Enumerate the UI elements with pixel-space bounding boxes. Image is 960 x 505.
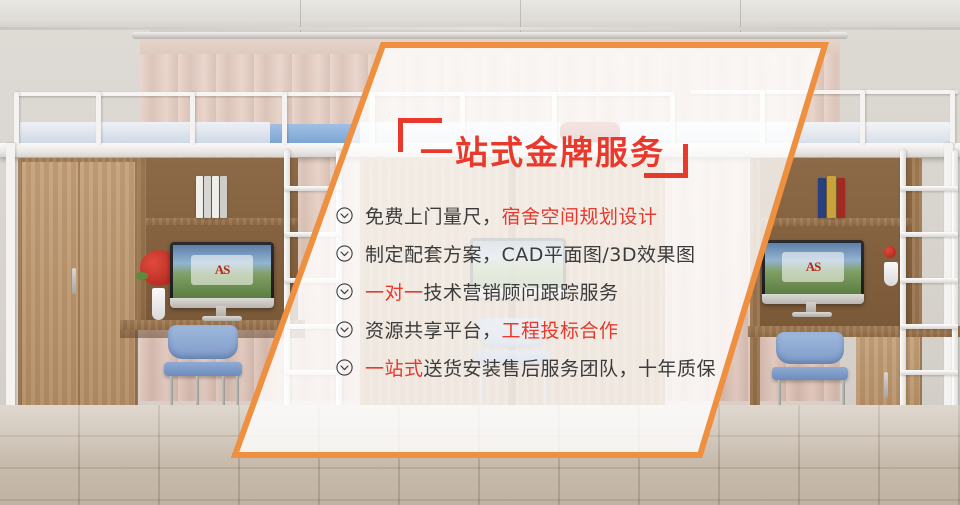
circled-chevron-down-icon bbox=[336, 207, 353, 224]
bracket-bottom-right-horizontal bbox=[644, 173, 688, 178]
feature-list: 免费上门量尺，宿舍空间规划设计 制定配套方案，CAD平面图/3D效果图 bbox=[336, 196, 766, 386]
page-title: 一站式金牌服务 bbox=[420, 126, 665, 174]
list-item-text: 一对一技术营销顾问跟踪服务 bbox=[365, 278, 619, 305]
list-item-highlight: 工程投标合作 bbox=[502, 320, 619, 342]
banner-stage: AS bbox=[0, 0, 960, 505]
list-item-text: 一站式送货安装售后服务团队，十年质保 bbox=[365, 354, 716, 381]
circled-chevron-down-icon bbox=[336, 245, 353, 262]
list-item-text: 免费上门量尺，宿舍空间规划设计 bbox=[365, 202, 658, 229]
list-item-plain-1: 制定配套方案，CAD平面图/3D效果图 bbox=[365, 244, 696, 266]
content-panel: 一站式金牌服务 免费上门量尺，宿舍空间规划设计 bbox=[0, 0, 960, 505]
list-item: 制定配套方案，CAD平面图/3D效果图 bbox=[336, 234, 766, 272]
list-item-plain-1: 免费上门量尺， bbox=[365, 206, 502, 228]
circled-chevron-down-icon bbox=[336, 359, 353, 376]
list-item-highlight: 宿舍空间规划设计 bbox=[502, 206, 658, 228]
list-item: 资源共享平台，工程投标合作 bbox=[336, 310, 766, 348]
bracket-bottom-right-vertical bbox=[683, 144, 688, 178]
list-item-highlight: 一对一 bbox=[365, 282, 424, 304]
circled-chevron-down-icon bbox=[336, 321, 353, 338]
list-item: 一站式送货安装售后服务团队，十年质保 bbox=[336, 348, 766, 386]
list-item: 一对一技术营销顾问跟踪服务 bbox=[336, 272, 766, 310]
list-item-highlight: 一站式 bbox=[365, 358, 424, 380]
circled-chevron-down-icon bbox=[336, 283, 353, 300]
list-item-text: 资源共享平台，工程投标合作 bbox=[365, 316, 619, 343]
list-item-plain-1: 资源共享平台， bbox=[365, 320, 502, 342]
list-item: 免费上门量尺，宿舍空间规划设计 bbox=[336, 196, 766, 234]
bracket-top-left-horizontal bbox=[398, 118, 442, 123]
title-block: 一站式金牌服务 bbox=[398, 118, 688, 180]
bracket-top-left-vertical bbox=[398, 118, 403, 152]
list-item-plain-2: 送货安装售后服务团队，十年质保 bbox=[424, 358, 717, 380]
list-item-text: 制定配套方案，CAD平面图/3D效果图 bbox=[365, 240, 696, 267]
list-item-plain-2: 技术营销顾问跟踪服务 bbox=[424, 282, 619, 304]
